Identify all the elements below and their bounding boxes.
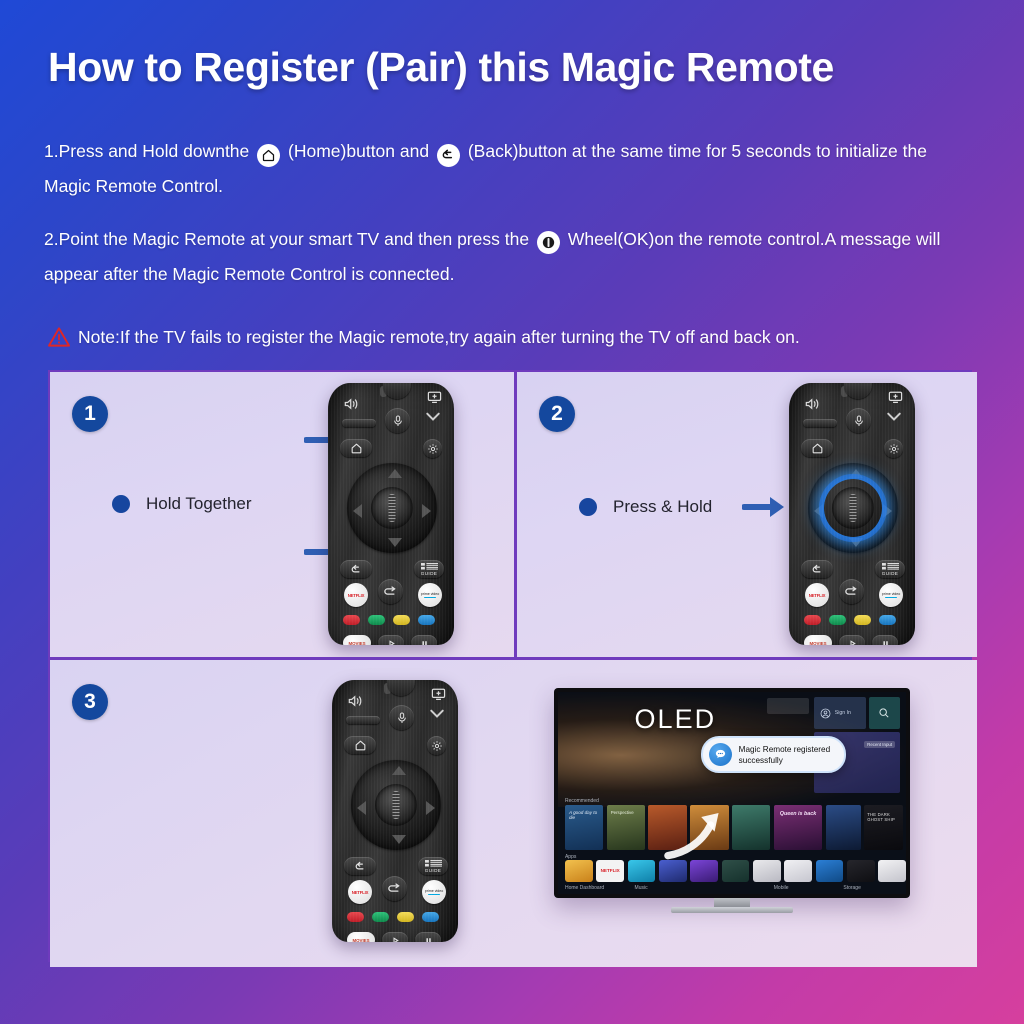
tv-app-icon-netflix[interactable]: NETFLIX	[596, 860, 624, 882]
tv-bottom-label-home-dashboard: Home Dashboard	[565, 885, 604, 891]
dpad[interactable]	[808, 463, 898, 553]
guide-label: GUIDE	[421, 571, 438, 576]
dpad-right[interactable]	[883, 504, 892, 518]
prime-label: prime video	[425, 889, 444, 893]
tv-card-title: Perspective	[611, 810, 634, 815]
color-key-green[interactable]	[368, 615, 385, 625]
tv-bottom-label-mobile: Mobile	[774, 885, 789, 891]
tv-clock-tile	[767, 698, 809, 714]
dpad-down[interactable]	[392, 835, 406, 844]
instruction-2-prefix: 2.Point the Magic Remote at your smart T…	[44, 229, 529, 249]
netflix-label: NETFLIX	[809, 593, 826, 598]
back-button[interactable]	[801, 560, 833, 578]
dpad-left[interactable]	[814, 504, 823, 518]
tv-app-icon[interactable]	[847, 860, 875, 882]
prime-label: prime video	[421, 592, 440, 596]
guide-button[interactable]: GUIDE	[414, 560, 444, 578]
movies-label: MOVIES	[348, 641, 365, 646]
oled-logo: OLED	[635, 704, 717, 735]
wheel-ok-button[interactable]	[375, 784, 417, 826]
step-1-caption-label: Hold Together	[146, 494, 252, 514]
instruction-1-mid-1: (Home)button and	[288, 141, 429, 161]
power-button[interactable]	[383, 383, 411, 399]
dpad-left[interactable]	[357, 801, 366, 815]
guide-button[interactable]: GUIDE	[418, 857, 448, 875]
play-button[interactable]	[382, 932, 408, 942]
page-title: How to Register (Pair) this Magic Remote	[48, 44, 988, 91]
guide-label: GUIDE	[882, 571, 899, 576]
color-key-yellow[interactable]	[393, 615, 410, 625]
mic-button[interactable]	[385, 408, 410, 433]
magic-remote-3: GUIDE NETFLIX prime video MOVIES	[332, 680, 458, 942]
prime-video-button[interactable]: prime video	[418, 583, 442, 607]
tv-card[interactable]: Queen is back	[774, 805, 823, 849]
wheel-ok-button[interactable]	[371, 487, 413, 529]
mic-button[interactable]	[846, 408, 871, 433]
step-badge-3: 3	[72, 684, 108, 720]
pointer-arrow-icon	[652, 797, 742, 864]
step-1-caption: Hold Together	[112, 494, 252, 514]
power-button[interactable]	[844, 383, 872, 399]
power-button[interactable]	[387, 680, 415, 696]
dpad-right[interactable]	[426, 801, 435, 815]
play-button[interactable]	[839, 635, 865, 645]
color-key-red[interactable]	[347, 912, 364, 922]
play-button[interactable]	[378, 635, 404, 645]
tv-recent-input-label: Recent Input	[864, 741, 895, 748]
arrow-to-wheel-icon	[742, 494, 786, 520]
dpad-up[interactable]	[392, 766, 406, 775]
prime-underline	[424, 597, 436, 599]
color-key-red[interactable]	[343, 615, 360, 625]
step-panel-3: 3	[50, 660, 977, 967]
tv-bottom-label-storage: Storage	[843, 885, 861, 891]
bullet-dot	[579, 498, 597, 516]
back-button[interactable]	[344, 857, 376, 875]
settings-gear-icon[interactable]	[884, 439, 903, 458]
volume-rocker[interactable]	[342, 419, 376, 427]
dpad-left[interactable]	[353, 504, 362, 518]
settings-gear-icon[interactable]	[423, 439, 442, 458]
tv-card[interactable]: THE DARK GHOST SHIP	[864, 805, 902, 849]
guide-label: GUIDE	[425, 868, 442, 873]
instruction-step-1: 1.Press and Hold downthe (Home)button an…	[44, 134, 974, 204]
tv-app-icon[interactable]	[753, 860, 781, 882]
toast-notification: Magic Remote registered successfully	[701, 736, 846, 773]
warning-triangle-icon	[48, 327, 70, 347]
color-key-red[interactable]	[804, 615, 821, 625]
color-key-green[interactable]	[829, 615, 846, 625]
tv-card[interactable]: Perspective	[607, 805, 645, 849]
source-button[interactable]	[839, 579, 864, 604]
step-panel-1: 1 Hold Together	[50, 372, 514, 657]
mute-icon[interactable]	[347, 694, 364, 713]
prime-underline	[428, 894, 440, 896]
search-icon	[878, 707, 890, 719]
pause-button[interactable]	[872, 635, 898, 645]
tv-card[interactable]: A good day to die	[565, 805, 603, 849]
prime-underline	[885, 597, 897, 599]
back-icon	[437, 144, 460, 167]
netflix-label: NETFLIX	[348, 593, 365, 598]
instruction-1-prefix: 1.Press and Hold downthe	[44, 141, 249, 161]
color-key-yellow[interactable]	[854, 615, 871, 625]
tv-screen: OLED Sign In Recent Input Recommended A …	[558, 692, 906, 894]
tv-card-title: Queen is back	[780, 811, 817, 817]
movies-label: MOVIES	[352, 938, 369, 943]
note-row: Note:If the TV fails to register the Mag…	[48, 323, 978, 351]
bullet-dot	[112, 495, 130, 513]
tv-app-icon[interactable]	[816, 860, 844, 882]
mic-button[interactable]	[389, 705, 414, 730]
step-badge-1: 1	[72, 396, 108, 432]
home-button[interactable]	[801, 439, 833, 457]
chat-bubble-icon	[709, 743, 732, 766]
channel-rocker[interactable]	[424, 410, 442, 429]
tv-card[interactable]	[826, 805, 861, 849]
color-key-yellow[interactable]	[397, 912, 414, 922]
movies-button[interactable]: MOVIES	[804, 635, 832, 645]
tv-stand-neck	[714, 898, 750, 907]
channel-rocker[interactable]	[428, 707, 446, 726]
tv-app-icon[interactable]	[878, 860, 906, 882]
step-2-caption-label: Press & Hold	[613, 497, 712, 517]
tv-signin-label: Sign In	[835, 710, 851, 716]
pause-button[interactable]	[411, 635, 437, 645]
step-2-caption: Press & Hold	[579, 494, 786, 520]
toast-line-2: successfully	[739, 755, 830, 766]
note-text: Note:If the TV fails to register the Mag…	[78, 323, 800, 351]
step-badge-2: 2	[539, 396, 575, 432]
home-button[interactable]	[340, 439, 372, 457]
tv-bottom-label-music: Music	[635, 885, 648, 891]
prime-video-button[interactable]: prime video	[879, 583, 903, 607]
color-key-blue[interactable]	[422, 912, 439, 922]
tv-card-title: THE DARK GHOST SHIP	[867, 812, 902, 822]
mute-icon[interactable]	[804, 397, 821, 416]
settings-gear-icon[interactable]	[427, 736, 446, 755]
netflix-button[interactable]: NETFLIX	[344, 583, 368, 607]
prime-label: prime video	[882, 592, 901, 596]
tv-app-icon[interactable]	[784, 860, 812, 882]
prime-video-button[interactable]: prime video	[422, 880, 446, 904]
netflix-button[interactable]: NETFLIX	[805, 583, 829, 607]
movies-button[interactable]: MOVIES	[343, 635, 371, 645]
netflix-button[interactable]: NETFLIX	[348, 880, 372, 904]
movies-button[interactable]: MOVIES	[347, 932, 375, 942]
toast-text: Magic Remote registered successfully	[739, 744, 830, 766]
step-panel-2: 2 Press & Hold	[517, 372, 977, 657]
source-button[interactable]	[378, 579, 403, 604]
home-icon	[257, 144, 280, 167]
volume-rocker[interactable]	[803, 419, 837, 427]
netflix-label: NETFLIX	[352, 890, 369, 895]
home-button[interactable]	[344, 736, 376, 754]
magic-remote-1: GUIDE NETFLIX prime video MOVIES	[328, 383, 454, 645]
movies-label: MOVIES	[809, 641, 826, 646]
user-avatar-icon	[820, 708, 831, 719]
dpad-up[interactable]	[849, 469, 863, 478]
steps-grid: 1 Hold Together	[48, 370, 972, 962]
input-icon[interactable]	[427, 391, 442, 409]
back-button[interactable]	[340, 560, 372, 578]
tv-row-label-apps: Apps	[565, 854, 576, 860]
tv-search-tile[interactable]	[869, 697, 900, 729]
dpad-right[interactable]	[422, 504, 431, 518]
magic-remote-2: GUIDE NETFLIX prime video MOVIES	[789, 383, 915, 645]
wheel-ok-icon	[537, 231, 560, 254]
mute-icon[interactable]	[343, 397, 360, 416]
dpad-down[interactable]	[849, 538, 863, 547]
color-key-green[interactable]	[372, 912, 389, 922]
input-icon[interactable]	[888, 391, 903, 409]
pause-button[interactable]	[415, 932, 441, 942]
instruction-step-2: 2.Point the Magic Remote at your smart T…	[44, 222, 974, 292]
guide-button[interactable]: GUIDE	[875, 560, 905, 578]
channel-rocker[interactable]	[885, 410, 903, 429]
tv-signin-tile[interactable]: Sign In	[814, 697, 866, 729]
color-key-blue[interactable]	[418, 615, 435, 625]
tv-stand-foot	[671, 907, 792, 913]
tv-card-title: A good day to die	[569, 810, 603, 820]
dpad[interactable]	[347, 463, 437, 553]
tv-row-label-recommended: Recommended	[565, 798, 599, 804]
color-key-blue[interactable]	[879, 615, 896, 625]
dpad-down[interactable]	[388, 538, 402, 547]
toast-line-1: Magic Remote registered	[739, 744, 830, 755]
dpad[interactable]	[351, 760, 441, 850]
source-button[interactable]	[382, 876, 407, 901]
wheel-ok-button[interactable]	[832, 487, 874, 529]
tv-app-icon[interactable]	[565, 860, 593, 882]
volume-rocker[interactable]	[346, 716, 380, 724]
input-icon[interactable]	[431, 688, 446, 706]
tv-illustration: OLED Sign In Recent Input Recommended A …	[554, 688, 910, 898]
dpad-up[interactable]	[388, 469, 402, 478]
